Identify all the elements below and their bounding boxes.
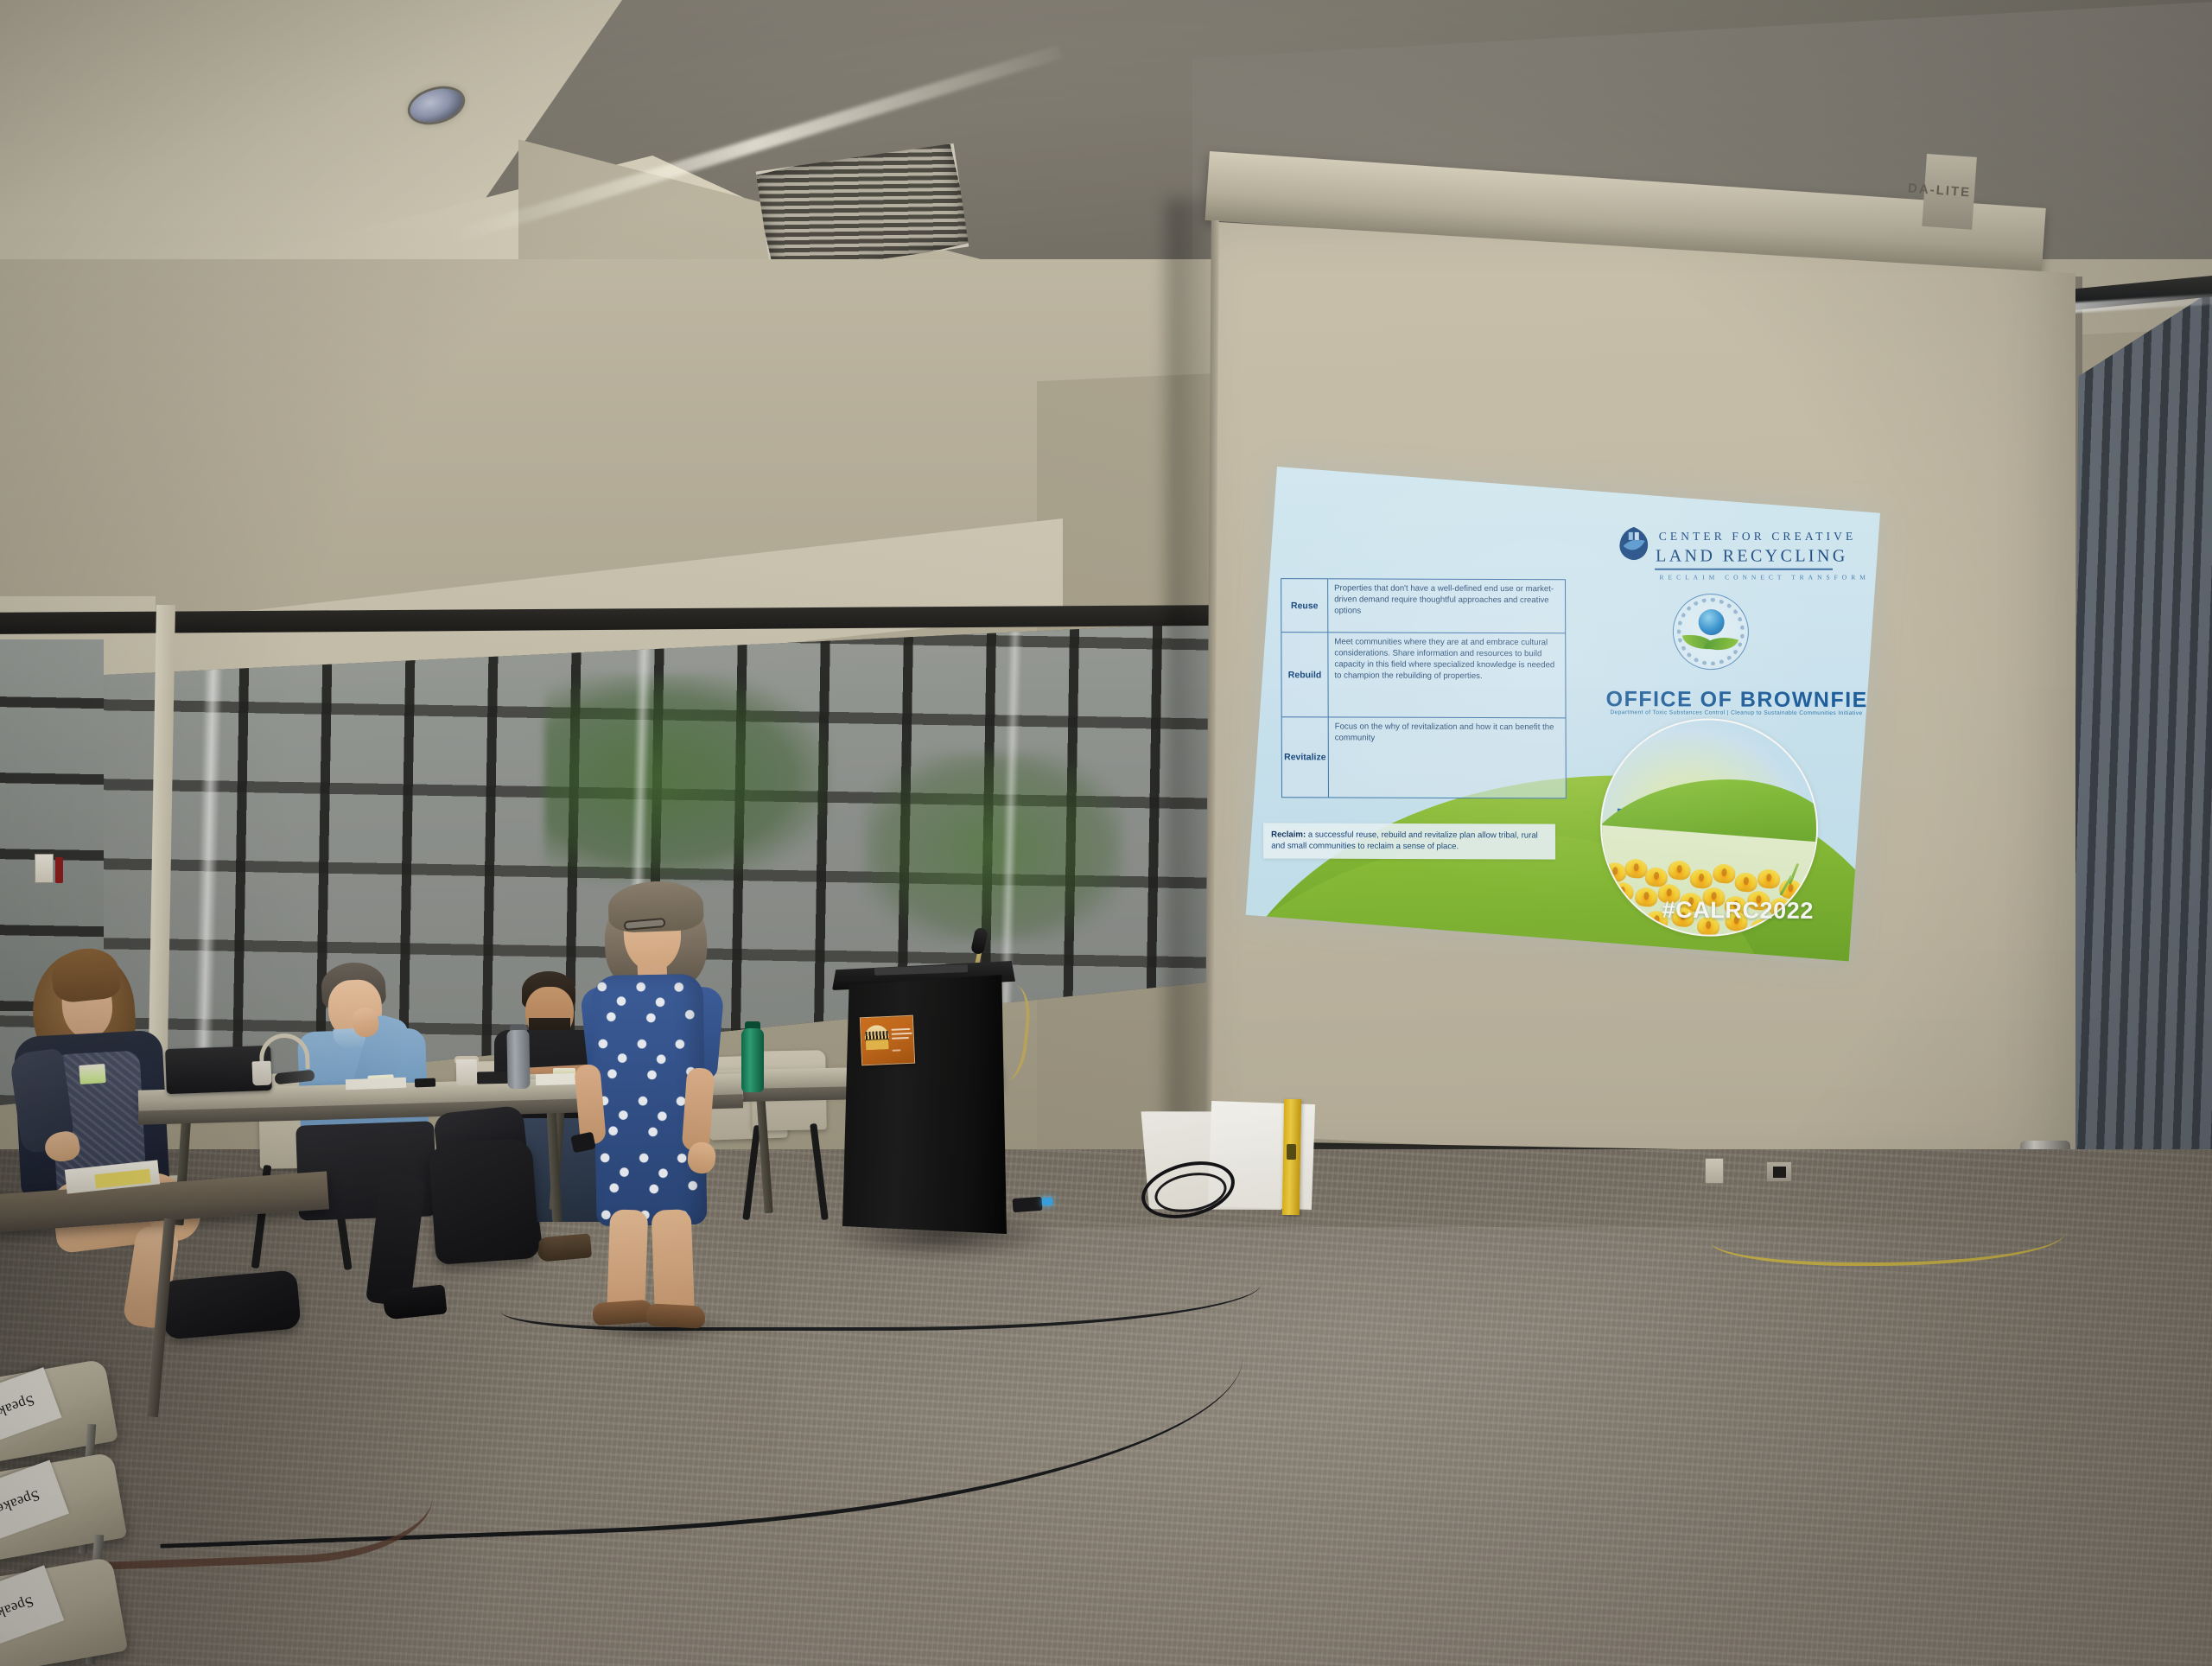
- sandal: [645, 1303, 705, 1329]
- table-row-label: Reuse: [1281, 579, 1328, 632]
- slide-hashtag: #CALRC2022: [1662, 897, 1813, 925]
- poppy-icon: [1635, 887, 1658, 908]
- poppy-icon: [1734, 873, 1758, 893]
- podium-sign-text-line: [892, 1049, 900, 1051]
- table-row-label: Rebuild: [1281, 633, 1328, 716]
- podium-sign-text-line: [891, 1028, 910, 1031]
- phone[interactable]: [415, 1078, 435, 1088]
- slide-3r-table: Reuse Properties that don't have a well-…: [1281, 578, 1567, 798]
- backpack: [428, 1137, 539, 1265]
- coffee-cup: [456, 1059, 478, 1085]
- table-row-body: Meet communities where they are at and e…: [1328, 633, 1565, 717]
- presenter-arm: [682, 1067, 715, 1152]
- sandal: [592, 1300, 654, 1326]
- slide-reclaim-callout: Reclaim: a successful reuse, rebuild and…: [1263, 823, 1555, 860]
- outdoor-foliage: [544, 674, 829, 881]
- epa-seal-icon: [1670, 591, 1751, 673]
- outdoor-foliage: [864, 752, 1123, 942]
- table-row-label: Revitalize: [1282, 717, 1329, 797]
- table-row: Rebuild Meet communities where they are …: [1281, 633, 1565, 718]
- reclaim-text: a successful reuse, rebuild and revitali…: [1271, 830, 1538, 852]
- cclr-logo: CENTER FOR CREATIVE LAND RECYCLING RECLA…: [1614, 506, 1843, 592]
- poppy-icon: [1689, 869, 1713, 890]
- floor-bag: [160, 1269, 301, 1340]
- table-row-body: Focus on the why of revitalization and h…: [1329, 717, 1566, 798]
- table-row-body: Properties that don't have a well-define…: [1328, 579, 1565, 633]
- poppy-icon: [1757, 869, 1780, 890]
- reclaim-lead: Reclaim:: [1271, 830, 1306, 839]
- power-indicator-led: [1042, 1198, 1052, 1205]
- podium-sign-poppy-icon: [866, 1040, 888, 1050]
- coffee-cup: [252, 1061, 272, 1086]
- table-row: Revitalize Focus on the why of revitaliz…: [1282, 717, 1566, 798]
- cclr-leaf-mark-icon: [1617, 525, 1651, 562]
- panelist-shoe: [537, 1233, 592, 1262]
- cable-tape-strip: [101, 1402, 435, 1569]
- paper-handouts: [346, 1078, 406, 1090]
- projected-slide: CENTER FOR CREATIVE LAND RECYCLING RECLA…: [1246, 467, 1880, 961]
- poppy-icon: [1713, 864, 1736, 885]
- cclr-tagline: RECLAIM CONNECT TRANSFORM: [1659, 574, 1869, 582]
- slide-canvas: CENTER FOR CREATIVE LAND RECYCLING RECLA…: [1246, 467, 1880, 961]
- name-badge: [79, 1064, 105, 1084]
- poppy-icon: [1668, 861, 1691, 881]
- podium-sign-text-line: [892, 1033, 912, 1035]
- fire-alarm-pull-icon[interactable]: [35, 854, 54, 883]
- grey-water-bottle: [506, 1030, 530, 1089]
- podium: [842, 975, 1007, 1234]
- poppy-icon: [1619, 905, 1643, 925]
- podium-conference-sign: [860, 1015, 915, 1066]
- cclr-rule: [1655, 569, 1833, 570]
- spirit-level-vial: [1287, 1144, 1296, 1160]
- podium-sign-skyline-icon: [866, 1031, 888, 1040]
- fire-alarm-strobe-icon: [55, 857, 63, 883]
- green-water-bottle: [741, 1028, 764, 1092]
- table-row: Reuse Properties that don't have a well-…: [1281, 579, 1565, 633]
- illustration-poppy-field: [1595, 826, 1815, 943]
- cclr-line1: CENTER FOR CREATIVE: [1659, 530, 1857, 544]
- podium-sign-text-line: [892, 1037, 909, 1040]
- data-port-socket: [1773, 1167, 1786, 1178]
- conference-room-photo: DA-LITE CENTER FOR CREATIVE LAND RECYCLI…: [0, 0, 2212, 1666]
- wall-outlet-icon[interactable]: [1705, 1158, 1724, 1184]
- cclr-line2: LAND RECYCLING: [1656, 546, 1848, 566]
